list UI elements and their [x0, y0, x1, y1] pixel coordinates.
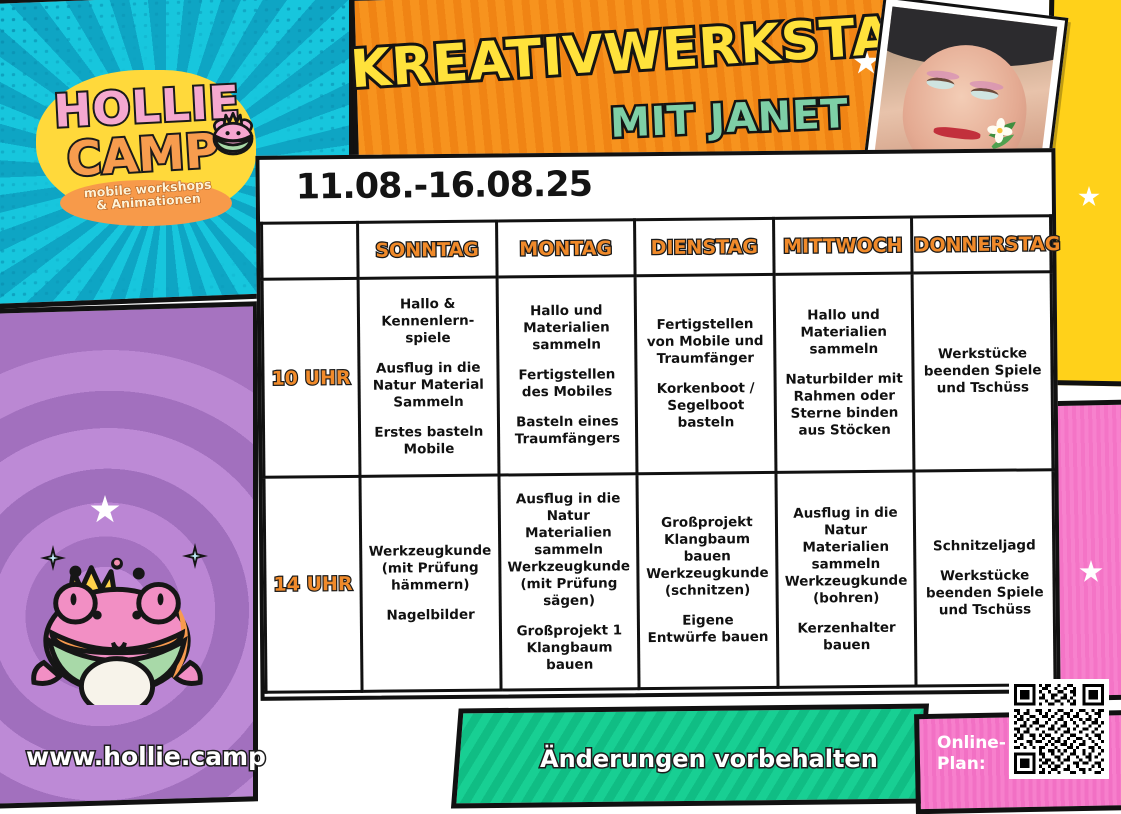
schedule-table-container: 11.08.-16.08.25 SONNTAG MONTAG DIENSTAG …	[255, 148, 1060, 701]
cell-14uhr-donnerstag: Schnitzeljagd Werkstücke beenden Spiele …	[914, 470, 1055, 686]
cell-block: Großprojekt 1 Klangbaum bauen	[507, 622, 631, 674]
table-row-14uhr: 14 UHR Werkzeugkunde (mit Prüfung hämmer…	[264, 470, 1055, 693]
day-header-donnerstag: DONNERSTAG	[912, 216, 1051, 273]
cell-14uhr-sonntag: Werkzeugkunde (mit Prüfung hämmern) Nage…	[360, 475, 501, 691]
cell-block: Werkzeugkunde (mit Prüfung hämmern)	[368, 542, 492, 594]
schedule-table: SONNTAG MONTAG DIENSTAG MITTWOCH DONNERS…	[260, 214, 1056, 694]
cell-block: Großprojekt Klangbaum bauen Werkzeugkund…	[645, 514, 769, 600]
cell-block: Werkstücke beenden Spiele und Tschüss	[921, 345, 1045, 397]
cell-block: Fertigstellen von Mobile und Traumfänger	[643, 316, 767, 368]
website-url[interactable]: www.hollie.camp	[26, 742, 266, 771]
cell-10uhr-donnerstag: Werkstücke beenden Spiele und Tschüss	[912, 272, 1053, 471]
poster-canvas: HOLLIE CAMP mobile workshops & Animation…	[0, 0, 1121, 793]
hollie-camp-logo: HOLLIE CAMP mobile workshops & Animation…	[36, 70, 256, 220]
cell-block: Naturbilder mit Rahmen oder Sterne binde…	[782, 370, 906, 439]
day-header-dienstag: DIENSTAG	[635, 218, 774, 275]
cell-block: Ausflug in die Natur Materialien sammeln…	[784, 504, 909, 607]
online-plan-label: Online- Plan:	[937, 733, 1007, 775]
frog-prince-icon	[204, 106, 262, 169]
time-label-14uhr: 14 UHR	[264, 476, 362, 692]
header-corner-blank	[262, 222, 359, 279]
cell-block: Korkenboot / Segelboot basteln	[644, 380, 768, 432]
day-header-montag: MONTAG	[496, 220, 635, 277]
cell-10uhr-mittwoch: Hallo und Materialien sammeln Naturbilde…	[774, 273, 914, 472]
cell-block: Schnitzeljagd	[922, 537, 1046, 555]
table-row-10uhr: 10 UHR Hallo & Kennenlern-spiele Ausflug…	[262, 272, 1053, 478]
cell-14uhr-dienstag: Großprojekt Klangbaum bauen Werkzeugkund…	[637, 472, 778, 688]
cell-block: Hallo und Materialien sammeln	[782, 306, 906, 358]
cell-block: Erstes basteln Mobile	[367, 423, 491, 458]
cell-block: Fertigstellen des Mobiles	[505, 366, 629, 401]
cell-block: Ausflug in die Natur Material Sammeln	[366, 359, 490, 411]
cell-block: Eigene Entwürfe bauen	[646, 612, 770, 647]
qr-code-icon[interactable]	[1009, 679, 1109, 779]
schedule-date-range: 11.08.-16.08.25	[296, 165, 593, 208]
cell-block: Hallo und Materialien sammeln	[504, 302, 628, 354]
day-header-sonntag: SONNTAG	[358, 221, 497, 278]
cell-block: Basteln eines Traumfängers	[505, 413, 629, 448]
table-header-row: SONNTAG MONTAG DIENSTAG MITTWOCH DONNERS…	[262, 216, 1052, 280]
cell-block: Werkstücke beenden Spiele und Tschüss	[923, 567, 1047, 619]
cell-10uhr-montag: Hallo und Materialien sammeln Fertigstel…	[497, 276, 637, 475]
cell-block: Kerzenhalter bauen	[785, 619, 909, 654]
cell-block: Ausflug in die Natur Materialien sammeln…	[506, 490, 631, 610]
cell-10uhr-dienstag: Fertigstellen von Mobile und Traumfänger…	[635, 274, 775, 473]
cell-block: Hallo & Kennenlern-spiele	[366, 295, 490, 347]
disclaimer-text: Änderungen vorbehalten	[540, 745, 878, 773]
cell-14uhr-montag: Ausflug in die Natur Materialien sammeln…	[499, 474, 640, 690]
cell-block: Nagelbilder	[369, 606, 493, 624]
cell-14uhr-mittwoch: Ausflug in die Natur Materialien sammeln…	[776, 471, 917, 687]
cell-10uhr-sonntag: Hallo & Kennenlern-spiele Ausflug in die…	[358, 277, 498, 476]
time-label-10uhr: 10 UHR	[262, 278, 360, 477]
frog-mascot-icon	[28, 545, 206, 710]
day-header-mittwoch: MITTWOCH	[773, 217, 912, 274]
